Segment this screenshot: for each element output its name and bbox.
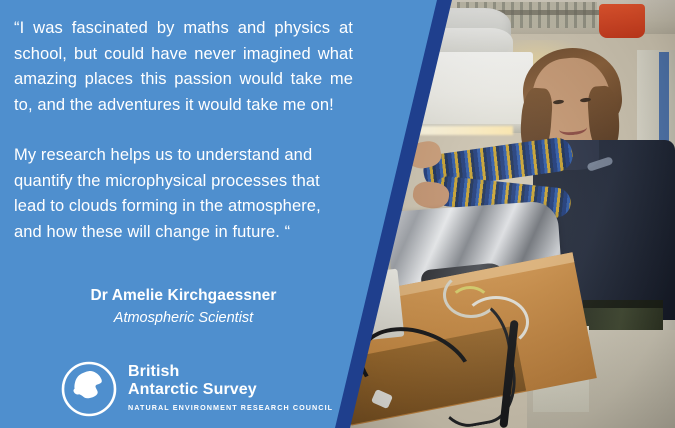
quote-block: “I was fascinated by maths and physics a… [14, 16, 353, 245]
logo-wordmark: British Antarctic Survey NATURAL ENVIRON… [128, 360, 333, 412]
attribution-role: Atmospheric Scientist [14, 308, 353, 328]
attribution: Dr Amelie Kirchgaessner Atmospheric Scie… [14, 286, 353, 328]
photo-rack-knob [377, 136, 386, 145]
logo-subtitle-nerc: NATURAL ENVIRONMENT RESEARCH COUNCIL [128, 403, 333, 412]
logo-line-antarctic-survey: Antarctic Survey [128, 381, 333, 399]
photo-rack-dark-panel [373, 128, 389, 218]
quote-paragraph-2: My research helps us to understand and q… [14, 143, 353, 245]
quote-card: “I was fascinated by maths and physics a… [0, 0, 675, 428]
logo-line-british: British [128, 363, 333, 381]
antarctica-roundel-icon [60, 360, 118, 418]
attribution-name: Dr Amelie Kirchgaessner [14, 286, 353, 306]
photo-rack-yellow-strip [359, 124, 371, 244]
photo-vignette [337, 0, 675, 428]
british-antarctic-survey-logo: British Antarctic Survey NATURAL ENVIRON… [60, 360, 333, 418]
quote-paragraph-1: “I was fascinated by maths and physics a… [14, 16, 353, 118]
